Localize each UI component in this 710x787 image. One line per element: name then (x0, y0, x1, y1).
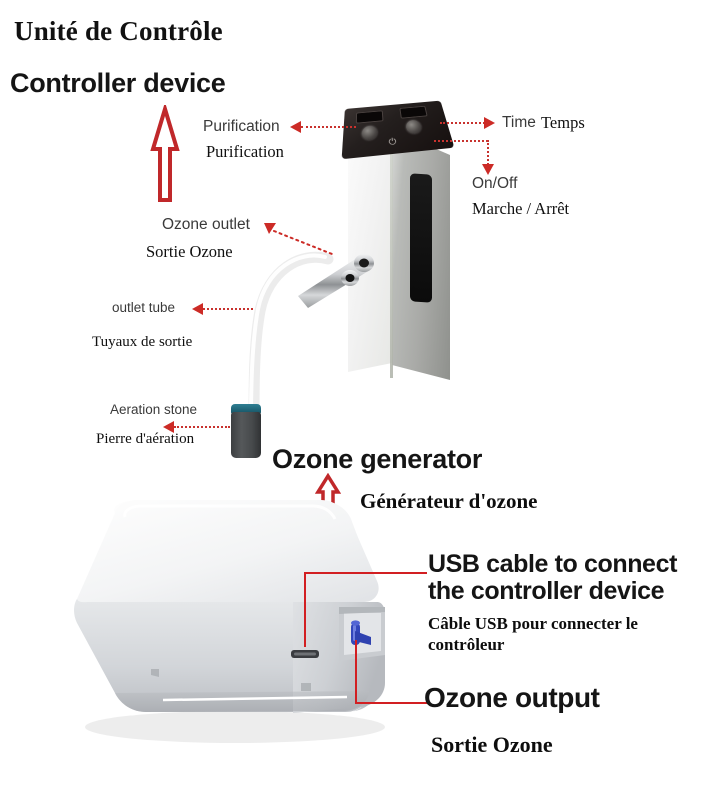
onoff-leader-horizontal (434, 140, 488, 142)
label-purification-en: Purification (203, 118, 280, 136)
label-usb-en: USB cable to connectthe controller devic… (428, 551, 677, 604)
label-aeration-stone-fr: Pierre d'aération (96, 431, 194, 448)
label-time-en: Time (502, 114, 536, 132)
panel-display-right (399, 106, 427, 119)
controller-display-window (410, 173, 432, 303)
aeration-stone-image (231, 404, 261, 458)
label-ozone-outlet-fr: Sortie Ozone (146, 242, 233, 262)
ozone-outlet-leader-line (272, 228, 334, 258)
outlet-tube-image (222, 245, 342, 430)
ozone-output-leader-horizontal (355, 702, 430, 704)
aeration-stone-arrow-icon (163, 421, 174, 433)
label-ozone-output-en: Ozone output (424, 683, 600, 713)
controller-device-image: ⏻ (330, 92, 460, 392)
outlet-tube-leader-line (203, 308, 253, 310)
time-leader-line (440, 122, 485, 124)
purification-button[interactable] (362, 125, 378, 140)
purification-leader-line (301, 126, 356, 128)
label-aeration-stone-en: Aeration stone (110, 402, 197, 417)
time-arrow-icon (484, 117, 495, 129)
label-ozone-outlet-en: Ozone outlet (162, 216, 250, 234)
label-time-fr: Temps (541, 113, 585, 133)
usb-leader-vertical (304, 572, 306, 647)
aeration-stone-leader-line (174, 426, 230, 428)
onoff-leader-vertical (487, 140, 489, 165)
page-title: Unité de Contrôle (14, 16, 223, 47)
ozone-generator-image (55, 495, 400, 745)
label-ozone-output-fr: Sortie Ozone (431, 731, 553, 759)
label-onoff-fr: Marche / Arrêt (472, 199, 569, 219)
label-purification-fr: Purification (206, 142, 284, 162)
generator-box-svg (55, 495, 400, 745)
onoff-arrow-icon (482, 164, 494, 175)
usb-leader-horizontal (304, 572, 427, 574)
label-onoff-en: On/Off (472, 175, 517, 193)
outlet-tube-arrow-icon (192, 303, 203, 315)
label-outlet-tube-fr: Tuyaux de sortie (92, 334, 192, 351)
purification-arrow-icon (290, 121, 301, 133)
power-button[interactable]: ⏻ (385, 136, 401, 148)
label-usb-en-line2: the controller device (428, 577, 664, 605)
controller-up-arrow-icon (148, 105, 182, 210)
label-usb-en-line1: USB cable to connect (428, 550, 677, 578)
panel-display-left (356, 110, 384, 123)
controller-heading: Controller device (10, 68, 225, 99)
timer-button[interactable] (405, 119, 422, 134)
ozone-output-leader-vertical (355, 640, 357, 704)
label-usb-fr: Câble USB pour connecter lecontrôleur (428, 613, 638, 656)
diagram-canvas: Unité de Contrôle Controller device ⏻ (0, 0, 710, 787)
label-outlet-tube-en: outlet tube (112, 300, 175, 315)
label-usb-fr-line2: contrôleur (428, 635, 504, 654)
label-usb-fr-line1: Câble USB pour connecter le (428, 614, 638, 633)
aeration-stone-body (231, 412, 261, 458)
generator-heading-en: Ozone generator (272, 444, 482, 475)
